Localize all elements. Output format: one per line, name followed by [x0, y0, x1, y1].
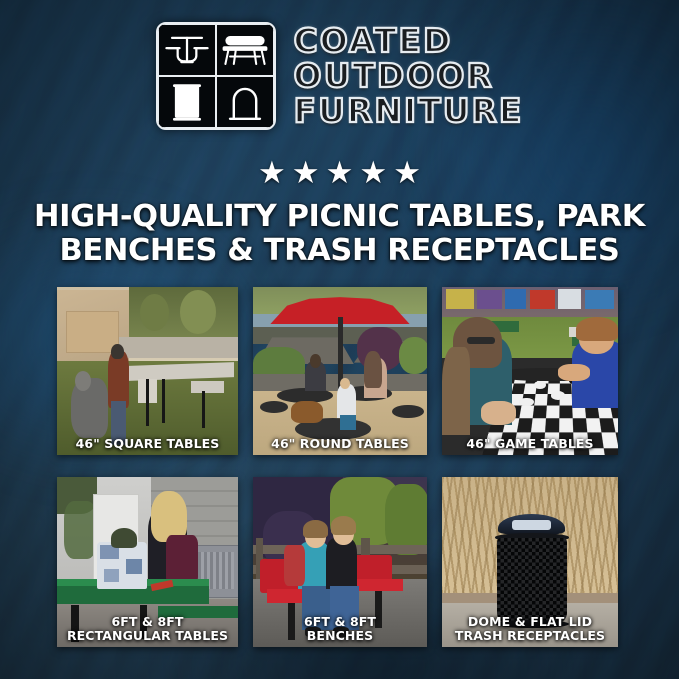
product-caption-square-tables: 46" SQUARE TABLES — [57, 437, 238, 451]
product-tile-benches[interactable]: 6FT & 8FT BENCHES — [253, 477, 427, 647]
product-tile-trash-receptacles[interactable]: DOME & FLAT LID TRASH RECEPTACLES — [442, 477, 618, 647]
brand-header: COATED OUTDOOR FURNITURE — [0, 22, 679, 130]
park-bench-icon — [216, 24, 274, 76]
product-photo-round-tables — [253, 287, 427, 455]
product-caption-rectangular-tables: 6FT & 8FT RECTANGULAR TABLES — [57, 615, 238, 642]
brand-logo-mark — [156, 22, 276, 130]
product-caption-game-tables: 46" GAME TABLES — [442, 437, 618, 451]
bike-rack-icon — [216, 76, 274, 128]
star-icon: ★ — [292, 157, 320, 188]
headline-line-1: HIGH-QUALITY PICNIC TABLES, PARK — [0, 200, 679, 234]
product-tile-game-tables[interactable]: 46" GAME TABLES — [442, 287, 618, 455]
picnic-table-icon — [158, 24, 216, 76]
star-icon: ★ — [393, 157, 421, 188]
poster-canvas: COATED OUTDOOR FURNITURE ★ ★ ★ ★ ★ HIGH-… — [0, 0, 679, 679]
product-photo-game-tables — [442, 287, 618, 455]
product-caption-round-tables: 46" ROUND TABLES — [253, 437, 427, 451]
brand-word-2: OUTDOOR — [294, 59, 524, 93]
headline: HIGH-QUALITY PICNIC TABLES, PARK BENCHES… — [0, 200, 679, 268]
brand-wordmark: COATED OUTDOOR FURNITURE — [294, 24, 524, 128]
product-tile-square-tables[interactable]: 46" SQUARE TABLES — [57, 287, 238, 455]
brand-word-3: FURNITURE — [294, 94, 524, 128]
product-photo-square-tables — [57, 287, 238, 455]
brand-word-1: COATED — [294, 24, 524, 58]
product-caption-trash-receptacles: DOME & FLAT LID TRASH RECEPTACLES — [442, 615, 618, 642]
product-tile-rectangular-tables[interactable]: 6FT & 8FT RECTANGULAR TABLES — [57, 477, 238, 647]
product-caption-benches: 6FT & 8FT BENCHES — [253, 615, 427, 642]
trash-receptacle-icon — [158, 76, 216, 128]
logo-lockup: COATED OUTDOOR FURNITURE — [156, 22, 524, 130]
star-icon: ★ — [258, 157, 286, 188]
star-icon: ★ — [359, 157, 387, 188]
product-grid: 46" SQUARE TABLES — [57, 287, 621, 647]
headline-line-2: BENCHES & TRASH RECEPTACLES — [0, 234, 679, 268]
star-icon: ★ — [326, 157, 354, 188]
star-rating: ★ ★ ★ ★ ★ — [0, 157, 679, 188]
product-tile-round-tables[interactable]: 46" ROUND TABLES — [253, 287, 427, 455]
